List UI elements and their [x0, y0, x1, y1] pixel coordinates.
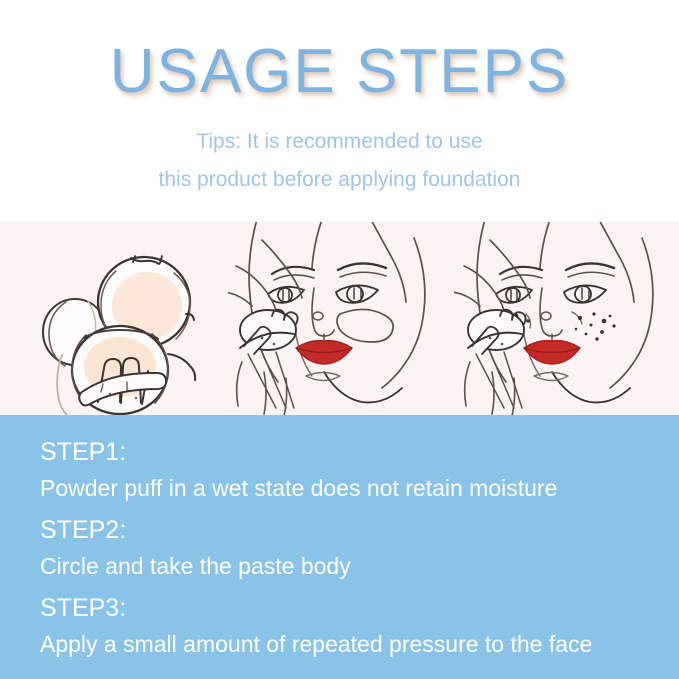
tips-line-1: Tips: It is recommended to use	[0, 131, 679, 152]
face-applying-drawing	[228, 222, 454, 415]
usage-steps-infographic: USAGE STEPS Tips: It is recommended to u…	[0, 0, 679, 679]
step-2-label: STEP2:	[40, 518, 351, 543]
step-item-1: STEP1: Powder puff in a wet state does n…	[40, 440, 557, 500]
face-freckles-drawing	[454, 222, 679, 415]
powder-puffs-drawing	[0, 222, 228, 415]
tips-line-2: this product before applying foundation	[0, 169, 679, 190]
page-title: USAGE STEPS	[0, 41, 679, 103]
step-1-label: STEP1:	[40, 440, 557, 465]
illustration-panel-powder-puffs	[0, 222, 228, 415]
illustration-panel-face-freckles	[454, 222, 679, 415]
illustration-panel-face-applying	[228, 222, 454, 415]
step-1-description: Powder puff in a wet state does not reta…	[40, 477, 557, 500]
header-section: USAGE STEPS Tips: It is recommended to u…	[0, 0, 679, 222]
step-2-description: Circle and take the paste body	[40, 555, 351, 578]
illustration-band	[0, 222, 679, 415]
step-3-description: Apply a small amount of repeated pressur…	[40, 633, 592, 656]
step-item-2: STEP2: Circle and take the paste body	[40, 518, 351, 578]
step-item-3: STEP3: Apply a small amount of repeated …	[40, 596, 592, 656]
step-3-label: STEP3:	[40, 596, 592, 621]
